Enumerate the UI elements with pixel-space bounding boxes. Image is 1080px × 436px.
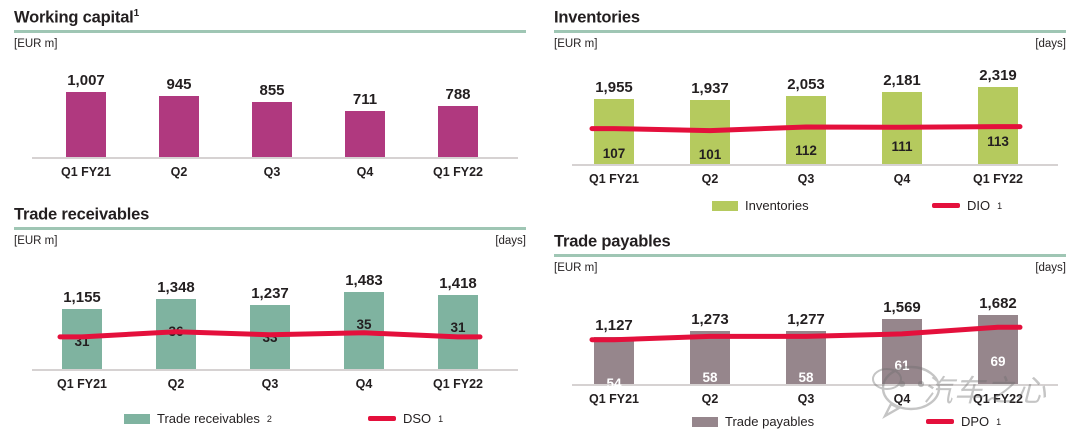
bar: 1,34836 (156, 299, 196, 369)
line-swatch-icon (932, 203, 960, 208)
category-label: Q1 FY22 (406, 377, 510, 391)
chart-trade-receivables: 1,15531Q1 FY211,34836Q21,23733Q31,48335Q… (14, 251, 526, 391)
panel-working-capital: Working capital1 [EUR m] 1,007Q1 FY21945… (14, 8, 526, 208)
axis-unit-left: [EUR m] (554, 262, 597, 274)
category-label: Q2 (124, 377, 228, 391)
footnote-marker: 1 (438, 414, 443, 424)
category-label: Q2 (127, 165, 231, 179)
category-label: Q1 FY22 (946, 392, 1050, 406)
bar-value-label: 1,348 (133, 279, 219, 296)
legend-inventories: Inventories DIO1 (554, 198, 1066, 220)
bar-value-label: 1,155 (39, 289, 125, 306)
legend-entry-dio: DIO1 (932, 198, 1002, 213)
line-value-label: 58 (786, 370, 826, 385)
bar: 1,007 (66, 92, 106, 157)
category-label: Q3 (754, 172, 858, 186)
bar: 1,41831 (438, 295, 478, 368)
line-value-label: 33 (250, 330, 290, 345)
line-value-label: 58 (690, 370, 730, 385)
panel-title-text: Trade receivables (14, 206, 149, 224)
legend-entry-dpo: DPO1 (926, 414, 1001, 429)
bar: 2,053112 (786, 96, 826, 164)
line-value-label: 35 (344, 317, 384, 332)
line-value-label: 36 (156, 324, 196, 339)
bar-swatch-icon (712, 201, 738, 211)
footnote-marker: 2 (267, 414, 272, 424)
bar: 1,68269 (978, 315, 1018, 384)
bar: 711 (345, 111, 385, 157)
panel-title-text: Inventories (554, 9, 640, 27)
legend-entry-dso: DSO1 (368, 411, 443, 426)
axis-baseline (572, 164, 1058, 166)
line-swatch-icon (368, 416, 396, 421)
legend-trade-receivables: Trade receivables2 DSO1 (14, 411, 526, 433)
bar: 1,937101 (690, 100, 730, 164)
bar: 855 (252, 102, 292, 157)
category-label: Q1 FY21 (30, 377, 134, 391)
title-rule (14, 30, 526, 33)
line-value-label: 112 (786, 143, 826, 158)
legend-entry-trade-receivables: Trade receivables2 (124, 411, 272, 426)
footnote-marker: 1 (996, 417, 1001, 427)
category-label: Q4 (850, 172, 954, 186)
line-value-label: 31 (438, 320, 478, 335)
legend-label: Trade receivables (157, 411, 260, 426)
chart-trade-payables: 1,12754Q1 FY211,27358Q21,27758Q31,56961Q… (554, 278, 1066, 406)
bar-value-label: 1,682 (955, 295, 1041, 312)
bar: 2,181111 (882, 92, 922, 164)
chart-inventories: 1,955107Q1 FY211,937101Q22,053112Q32,181… (554, 54, 1066, 186)
bar: 1,23733 (250, 305, 290, 369)
bar: 2,319113 (978, 87, 1018, 164)
bar-value-label: 2,053 (763, 76, 849, 93)
bar: 945 (159, 96, 199, 157)
bar: 1,27758 (786, 331, 826, 383)
bar-swatch-icon (692, 417, 718, 427)
category-label: Q2 (658, 392, 762, 406)
bar-value-label: 1,007 (43, 72, 129, 89)
page-title-trade-payables: Trade payables (554, 232, 1066, 251)
category-label: Q2 (658, 172, 762, 186)
bar: 1,48335 (344, 292, 384, 369)
category-label: Q1 FY22 (406, 165, 510, 179)
category-label: Q4 (850, 392, 954, 406)
bar-value-label: 1,277 (763, 311, 849, 328)
bar-value-label: 2,181 (859, 72, 945, 89)
line-value-label: 113 (978, 134, 1018, 149)
title-rule (554, 254, 1066, 257)
page-title-inventories: Inventories (554, 8, 1066, 27)
axis-unit-right: [days] (495, 235, 526, 247)
chart-working-capital: 1,007Q1 FY21945Q2855Q3711Q4788Q1 FY22 (14, 54, 526, 179)
legend-label: DIO (967, 198, 990, 213)
axis-units: [EUR m] [days] (554, 262, 1066, 278)
axis-unit-left: [EUR m] (14, 235, 57, 247)
category-label: Q4 (313, 165, 417, 179)
bar: 1,955107 (594, 99, 634, 164)
bar: 1,27358 (690, 331, 730, 383)
line-value-label: 107 (594, 146, 634, 161)
page-title-working-capital: Working capital1 (14, 8, 526, 27)
line-swatch-icon (926, 419, 954, 424)
panel-inventories: Inventories [EUR m] [days] 1,955107Q1 FY… (554, 8, 1066, 220)
bar-swatch-icon (124, 414, 150, 424)
bar-value-label: 1,483 (321, 272, 407, 289)
axis-unit-left: [EUR m] (554, 38, 597, 50)
axis-unit-right: [days] (1035, 262, 1066, 274)
bar-value-label: 1,237 (227, 285, 313, 302)
bar: 1,12754 (594, 337, 634, 383)
line-value-label: 69 (978, 354, 1018, 369)
bar-value-label: 711 (322, 91, 408, 108)
category-label: Q1 FY21 (34, 165, 138, 179)
panel-title-text: Trade payables (554, 233, 670, 251)
category-label: Q1 FY21 (562, 172, 666, 186)
bar-value-label: 1,937 (667, 80, 753, 97)
panel-trade-payables: Trade payables [EUR m] [days] 1,12754Q1 … (554, 232, 1066, 436)
legend-entry-trade-payables: Trade payables (692, 414, 814, 429)
axis-units: [EUR m] [days] (554, 38, 1066, 54)
panel-trade-receivables: Trade receivables [EUR m] [days] 1,15531… (14, 205, 526, 433)
bar-value-label: 855 (229, 82, 315, 99)
bar-value-label: 1,273 (667, 311, 753, 328)
category-label: Q3 (754, 392, 858, 406)
bar: 1,56961 (882, 319, 922, 383)
axis-units: [EUR m] [days] (14, 235, 526, 251)
category-label: Q3 (220, 165, 324, 179)
bar: 788 (438, 106, 478, 157)
category-label: Q4 (312, 377, 416, 391)
axis-units: [EUR m] (14, 38, 526, 54)
legend-label: Trade payables (725, 414, 814, 429)
working-capital-dashboard: Working capital1 [EUR m] 1,007Q1 FY21945… (0, 0, 1080, 436)
title-rule (554, 30, 1066, 33)
category-label: Q1 FY22 (946, 172, 1050, 186)
footnote-marker: 1 (997, 201, 1002, 211)
bar-value-label: 2,319 (955, 67, 1041, 84)
axis-baseline (32, 157, 518, 159)
panel-title-text: Working capital (14, 9, 134, 27)
axis-unit-left: [EUR m] (14, 38, 57, 50)
legend-trade-payables: Trade payables DPO1 (554, 414, 1066, 436)
category-label: Q3 (218, 377, 322, 391)
line-value-label: 54 (594, 376, 634, 391)
legend-entry-inventories: Inventories (712, 198, 809, 213)
line-value-label: 101 (690, 147, 730, 162)
line-value-label: 31 (62, 334, 102, 349)
line-value-label: 61 (882, 358, 922, 373)
bar-value-label: 788 (415, 86, 501, 103)
legend-label: DPO (961, 414, 989, 429)
bar-value-label: 1,569 (859, 299, 945, 316)
axis-unit-right: [days] (1035, 38, 1066, 50)
category-label: Q1 FY21 (562, 392, 666, 406)
line-value-label: 111 (882, 139, 922, 154)
legend-label: DSO (403, 411, 431, 426)
bar-value-label: 945 (136, 76, 222, 93)
bar-value-label: 1,127 (571, 317, 657, 334)
bar-value-label: 1,955 (571, 79, 657, 96)
footnote-marker: 1 (134, 8, 139, 19)
legend-label: Inventories (745, 198, 809, 213)
page-title-trade-receivables: Trade receivables (14, 205, 526, 224)
axis-baseline (32, 369, 518, 371)
title-rule (14, 227, 526, 230)
bar: 1,15531 (62, 309, 102, 369)
bar-value-label: 1,418 (415, 275, 501, 292)
